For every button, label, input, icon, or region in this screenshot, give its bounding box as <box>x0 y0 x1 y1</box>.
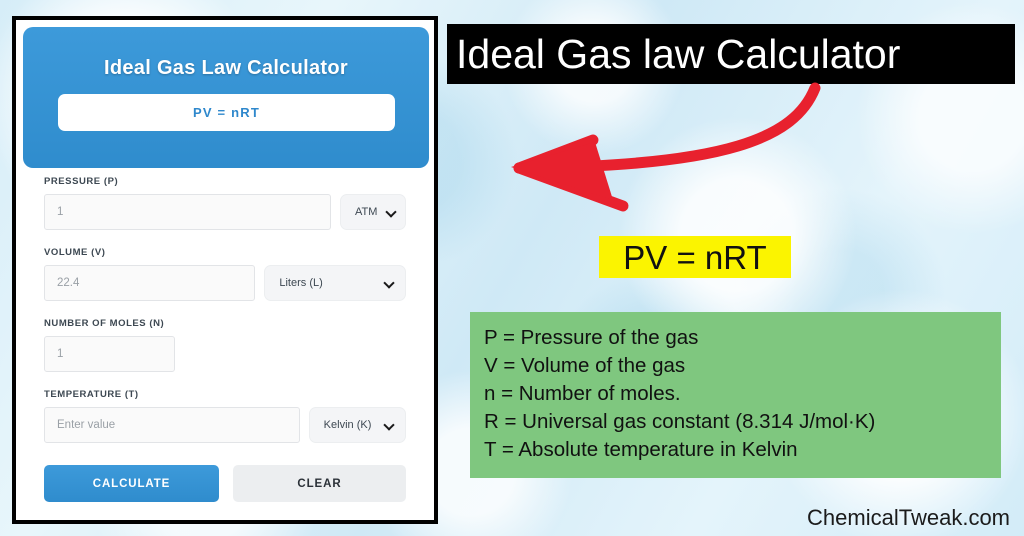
legend-line-n: n = Number of moles. <box>484 380 1001 408</box>
volume-unit-value: Liters (L) <box>279 277 322 289</box>
action-button-row: CALCULATE CLEAR <box>44 465 406 502</box>
chevron-down-icon <box>385 279 394 288</box>
legend-line-p: P = Pressure of the gas <box>484 324 1001 352</box>
moles-input[interactable]: 1 <box>44 336 175 372</box>
formula-display-box: PV = nRT <box>58 94 395 131</box>
formula-display-text: PV = nRT <box>193 105 260 120</box>
calculator-form: PRESSURE (P) 1 ATM VOLUME (V) 22.4 Liter… <box>16 176 434 502</box>
site-watermark: ChemicalTweak.com <box>807 505 1010 531</box>
calculator-card: Ideal Gas Law Calculator PV = nRT PRESSU… <box>12 16 438 524</box>
label-moles: NUMBER OF MOLES (N) <box>44 318 406 329</box>
highlighted-formula-text: PV = nRT <box>623 241 766 274</box>
chevron-down-icon <box>385 421 394 430</box>
legend-line-r: R = Universal gas constant (8.314 J/mol·… <box>484 408 1001 436</box>
poster-canvas: Ideal Gas Law Calculator PV = nRT PRESSU… <box>0 0 1024 536</box>
legend-box: P = Pressure of the gas V = Volume of th… <box>470 312 1001 478</box>
poster-title-text: Ideal Gas law Calculator <box>456 34 900 75</box>
label-temperature: TEMPERATURE (T) <box>44 389 406 400</box>
poster-title-banner: Ideal Gas law Calculator <box>447 24 1015 84</box>
row-pressure: 1 ATM <box>44 194 406 230</box>
volume-unit-select[interactable]: Liters (L) <box>264 265 406 301</box>
legend-line-v: V = Volume of the gas <box>484 352 1001 380</box>
chevron-down-icon <box>387 208 396 217</box>
temperature-unit-value: Kelvin (K) <box>324 419 372 431</box>
pressure-input[interactable]: 1 <box>44 194 331 230</box>
temperature-input[interactable]: Enter value <box>44 407 300 443</box>
clear-button[interactable]: CLEAR <box>233 465 406 502</box>
pressure-unit-value: ATM <box>355 206 377 218</box>
row-moles: 1 <box>44 336 406 372</box>
calculate-button[interactable]: CALCULATE <box>44 465 219 502</box>
label-volume: VOLUME (V) <box>44 247 406 258</box>
label-pressure: PRESSURE (P) <box>44 176 406 187</box>
calculator-title: Ideal Gas Law Calculator <box>23 57 429 80</box>
calculator-header: Ideal Gas Law Calculator PV = nRT <box>23 27 429 168</box>
field-group-pressure: PRESSURE (P) 1 ATM <box>44 176 406 230</box>
field-group-temperature: TEMPERATURE (T) Enter value Kelvin (K) <box>44 389 406 443</box>
temperature-unit-select[interactable]: Kelvin (K) <box>309 407 406 443</box>
highlighted-formula-box: PV = nRT <box>599 236 791 278</box>
row-temperature: Enter value Kelvin (K) <box>44 407 406 443</box>
pressure-unit-select[interactable]: ATM <box>340 194 406 230</box>
row-volume: 22.4 Liters (L) <box>44 265 406 301</box>
volume-input[interactable]: 22.4 <box>44 265 255 301</box>
field-group-volume: VOLUME (V) 22.4 Liters (L) <box>44 247 406 301</box>
field-group-moles: NUMBER OF MOLES (N) 1 <box>44 318 406 372</box>
legend-line-t: T = Absolute temperature in Kelvin <box>484 436 1001 464</box>
